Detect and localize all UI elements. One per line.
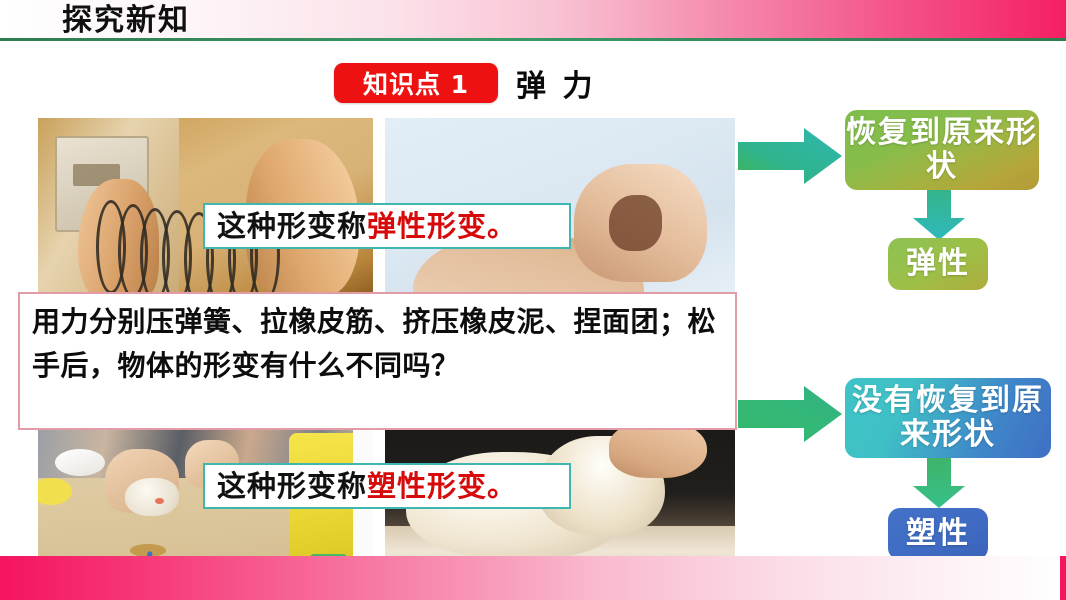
arrow-down-icon-plastic	[913, 458, 965, 508]
callout-plastic-prefix: 这种形变称	[217, 472, 367, 501]
callout-plastic-emphasis: 塑性形变。	[367, 472, 517, 501]
arrow-right-icon-plastic	[738, 386, 842, 442]
callout-elastic-emphasis: 弹性形变。	[367, 212, 517, 241]
footer-band	[0, 556, 1066, 600]
flow-box-elasticity: 弹性	[888, 238, 988, 290]
flow-box-plasticity: 塑性	[888, 508, 988, 560]
slide-canvas: 探究新知 知识点 1 弹 力	[0, 0, 1066, 600]
header-divider-rule	[0, 38, 1066, 41]
question-box: 用力分别压弹簧、拉橡皮筋、挤压橡皮泥、捏面团；松手后，物体的形变有什么不同吗？	[18, 292, 737, 430]
page-title: 探究新知	[62, 4, 190, 38]
arrow-right-icon-elastic	[738, 128, 842, 184]
callout-elastic-prefix: 这种形变称	[217, 212, 367, 241]
callout-plastic-deformation: 这种形变称塑性形变。	[203, 463, 571, 509]
knowledge-point-badge: 知识点 1	[334, 63, 498, 103]
flow-box-restore-shape: 恢复到原来形状	[845, 110, 1039, 190]
knowledge-point-title: 弹 力	[516, 63, 595, 103]
footer-right-cap	[1060, 556, 1066, 600]
callout-elastic-deformation: 这种形变称弹性形变。	[203, 203, 571, 249]
flow-box-no-restore-shape: 没有恢复到原来形状	[845, 378, 1051, 458]
arrow-down-icon-elastic	[913, 190, 965, 240]
